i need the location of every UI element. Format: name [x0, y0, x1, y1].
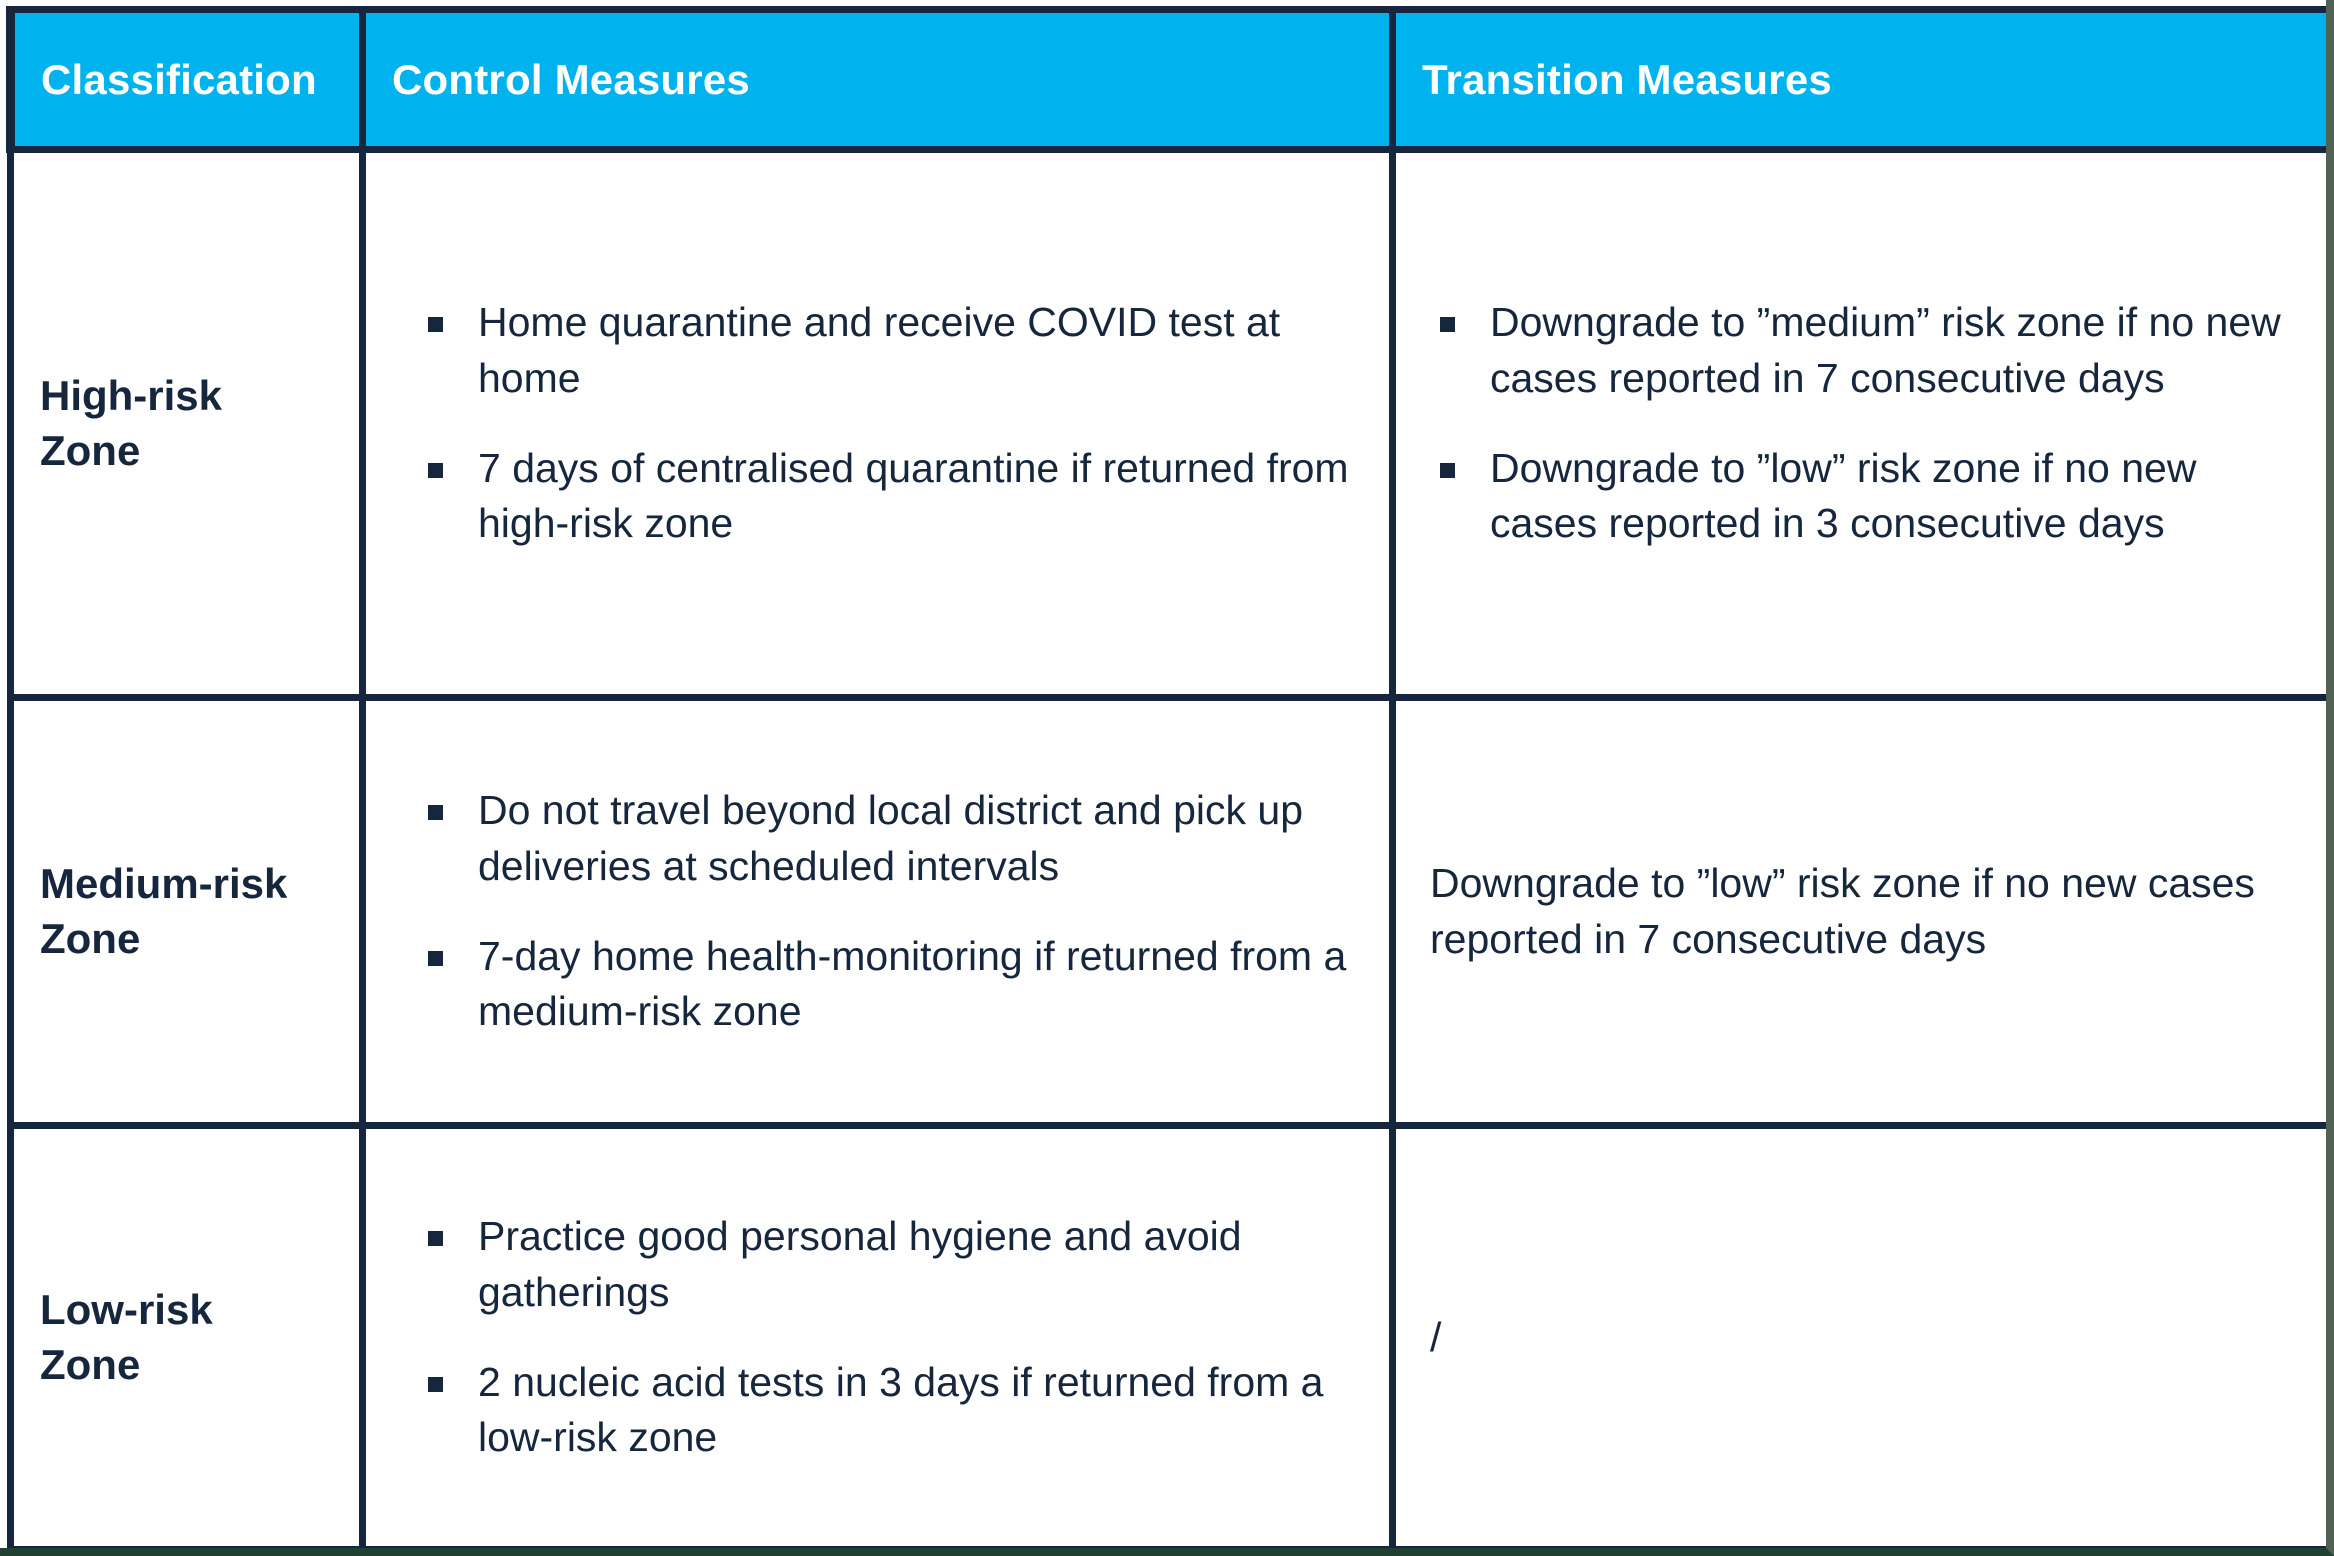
- cell-transition-measures: Downgrade to ”low” risk zone if no new c…: [1393, 698, 2331, 1126]
- list-item: Practice good personal hygiene and avoid…: [418, 1209, 1355, 1321]
- transition-measures-list: Downgrade to ”medium” risk zone if no ne…: [1430, 295, 2297, 552]
- cell-classification: Medium-risk Zone: [11, 698, 363, 1126]
- table-body: High-risk Zone Home quarantine and recei…: [11, 150, 2331, 1550]
- cell-transition-measures: /: [1393, 1126, 2331, 1550]
- column-header-classification: Classification: [11, 10, 363, 150]
- cell-control-measures: Do not travel beyond local district and …: [363, 698, 1393, 1126]
- table-header: Classification Control Measures Transiti…: [11, 10, 2331, 150]
- table-row: Low-risk Zone Practice good personal hyg…: [11, 1126, 2331, 1550]
- list-item: 7 days of centralised quarantine if retu…: [418, 441, 1355, 553]
- control-measures-list: Home quarantine and receive COVID test a…: [418, 295, 1355, 552]
- cell-control-measures: Practice good personal hygiene and avoid…: [363, 1126, 1393, 1550]
- cell-transition-measures: Downgrade to ”medium” risk zone if no ne…: [1393, 150, 2331, 698]
- column-header-transition-measures: Transition Measures: [1393, 10, 2331, 150]
- risk-zone-table: Classification Control Measures Transiti…: [6, 6, 2334, 1553]
- cell-classification: Low-risk Zone: [11, 1126, 363, 1550]
- table-container: Classification Control Measures Transiti…: [0, 0, 2326, 1548]
- header-row: Classification Control Measures Transiti…: [11, 10, 2331, 150]
- control-measures-list: Do not travel beyond local district and …: [418, 783, 1355, 1040]
- transition-measures-text: /: [1430, 1313, 2297, 1362]
- transition-measures-text: Downgrade to ”low” risk zone if no new c…: [1430, 856, 2297, 968]
- list-item: Downgrade to ”low” risk zone if no new c…: [1430, 441, 2297, 553]
- list-item: 7-day home health-monitoring if returned…: [418, 929, 1355, 1041]
- table-row: Medium-risk Zone Do not travel beyond lo…: [11, 698, 2331, 1126]
- cell-classification: High-risk Zone: [11, 150, 363, 698]
- list-item: Do not travel beyond local district and …: [418, 783, 1355, 895]
- list-item: 2 nucleic acid tests in 3 days if return…: [418, 1355, 1355, 1467]
- cell-control-measures: Home quarantine and receive COVID test a…: [363, 150, 1393, 698]
- risk-zone-label: Low-risk Zone: [40, 1283, 335, 1392]
- list-item: Downgrade to ”medium” risk zone if no ne…: [1430, 295, 2297, 407]
- control-measures-list: Practice good personal hygiene and avoid…: [418, 1209, 1355, 1466]
- list-item: Home quarantine and receive COVID test a…: [418, 295, 1355, 407]
- risk-zone-label: High-risk Zone: [40, 369, 335, 478]
- table-row: High-risk Zone Home quarantine and recei…: [11, 150, 2331, 698]
- page-frame: Classification Control Measures Transiti…: [0, 0, 2334, 1556]
- risk-zone-label: Medium-risk Zone: [40, 857, 335, 966]
- column-header-control-measures: Control Measures: [363, 10, 1393, 150]
